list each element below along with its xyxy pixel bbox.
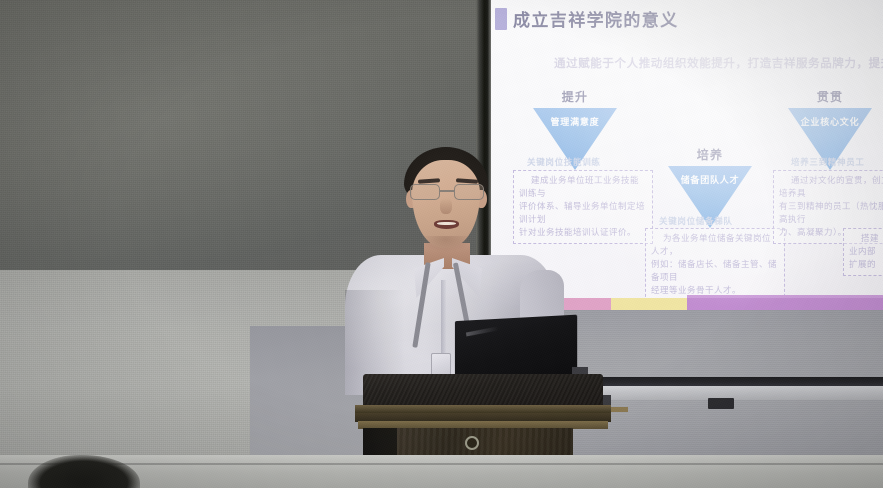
presenter-nose	[440, 198, 452, 214]
text-box-4: 搭建 业内部 扩展的	[843, 228, 883, 276]
presenter-shirt-placket	[441, 280, 446, 364]
eyeglasses-lens-left	[410, 184, 440, 200]
funnel-instill-caption: 贯贯	[788, 88, 872, 105]
photo-scene: 成立吉祥学院的意义 通过赋能于个人推动组织效能提升，打造吉祥服务品牌力，提升能 …	[0, 0, 883, 488]
slide-subtitle: 通过赋能于个人推动组织效能提升，打造吉祥服务品牌力，提升能	[554, 55, 883, 71]
band-segment-purple	[687, 298, 883, 310]
text-box-2-line-1: 为各业务单位储备关键岗位人才，	[651, 233, 779, 259]
baseboard-seam	[0, 463, 883, 465]
text-box-3-line-1: 通过对文化的宣贯，创立和培养具	[779, 175, 883, 201]
text-box-2-line-2: 例如：储备店长、储备主管、储备项目	[651, 259, 779, 285]
whiteboard-tray-dark-edge	[600, 377, 883, 386]
presenter-chin-shadow	[420, 236, 472, 252]
slide-title-accent-bar	[495, 8, 507, 30]
podium-cable-grommet-icon	[465, 436, 479, 450]
text-box-4-line-3: 扩展的	[849, 259, 883, 272]
funnel-instill-label: 企业核心文化	[788, 115, 872, 128]
funnel-cultivate-subcaption: 关键岗位储备梯队	[659, 215, 733, 227]
funnel-cultivate-label: 储备团队人才	[668, 173, 752, 186]
eyeglasses-bridge	[440, 190, 454, 192]
funnel-improve-subcaption: 关键岗位技能训练	[527, 156, 601, 168]
presenter-mouth	[434, 220, 459, 229]
text-box-2: 为各业务单位储备关键岗位人才， 例如：储备店长、储备主管、储备项目 经理等业务骨…	[645, 228, 785, 302]
text-box-1-line-2: 评价体系、辅导业务单位制定培训计划	[519, 201, 647, 227]
tray-clip-icon	[708, 398, 734, 409]
text-box-1-line-1: 建成业务单位班工业务技能训练与	[519, 175, 647, 201]
funnel-improve-caption: 提升	[533, 88, 617, 105]
text-box-4-line-2: 业内部	[849, 246, 883, 259]
band-segment-yellow	[611, 298, 691, 310]
text-box-1-line-3: 针对业务技能培训认证评价。	[519, 227, 647, 240]
laptop-screen-lid	[455, 315, 577, 381]
text-box-1: 建成业务单位班工业务技能训练与 评价体系、辅导业务单位制定培训计划 针对业务技能…	[513, 170, 653, 244]
funnel-improve-label: 管理满意度	[533, 115, 617, 128]
projected-slide: 成立吉祥学院的意义 通过赋能于个人推动组织效能提升，打造吉祥服务品牌力，提升能 …	[491, 0, 883, 310]
eyeglasses-lens-right	[454, 184, 484, 200]
text-box-3-line-2: 有三到精神的员工（热忱服务、高执行	[779, 201, 883, 227]
podium-top-surface	[363, 374, 603, 408]
text-box-4-line-1: 搭建	[849, 233, 883, 246]
slide-title: 成立吉祥学院的意义	[513, 6, 679, 31]
funnel-instill-subcaption: 培养三到精神员工	[791, 156, 865, 168]
funnel-cultivate-caption: 培养	[668, 146, 752, 163]
podium-edge-upper	[355, 405, 611, 413]
